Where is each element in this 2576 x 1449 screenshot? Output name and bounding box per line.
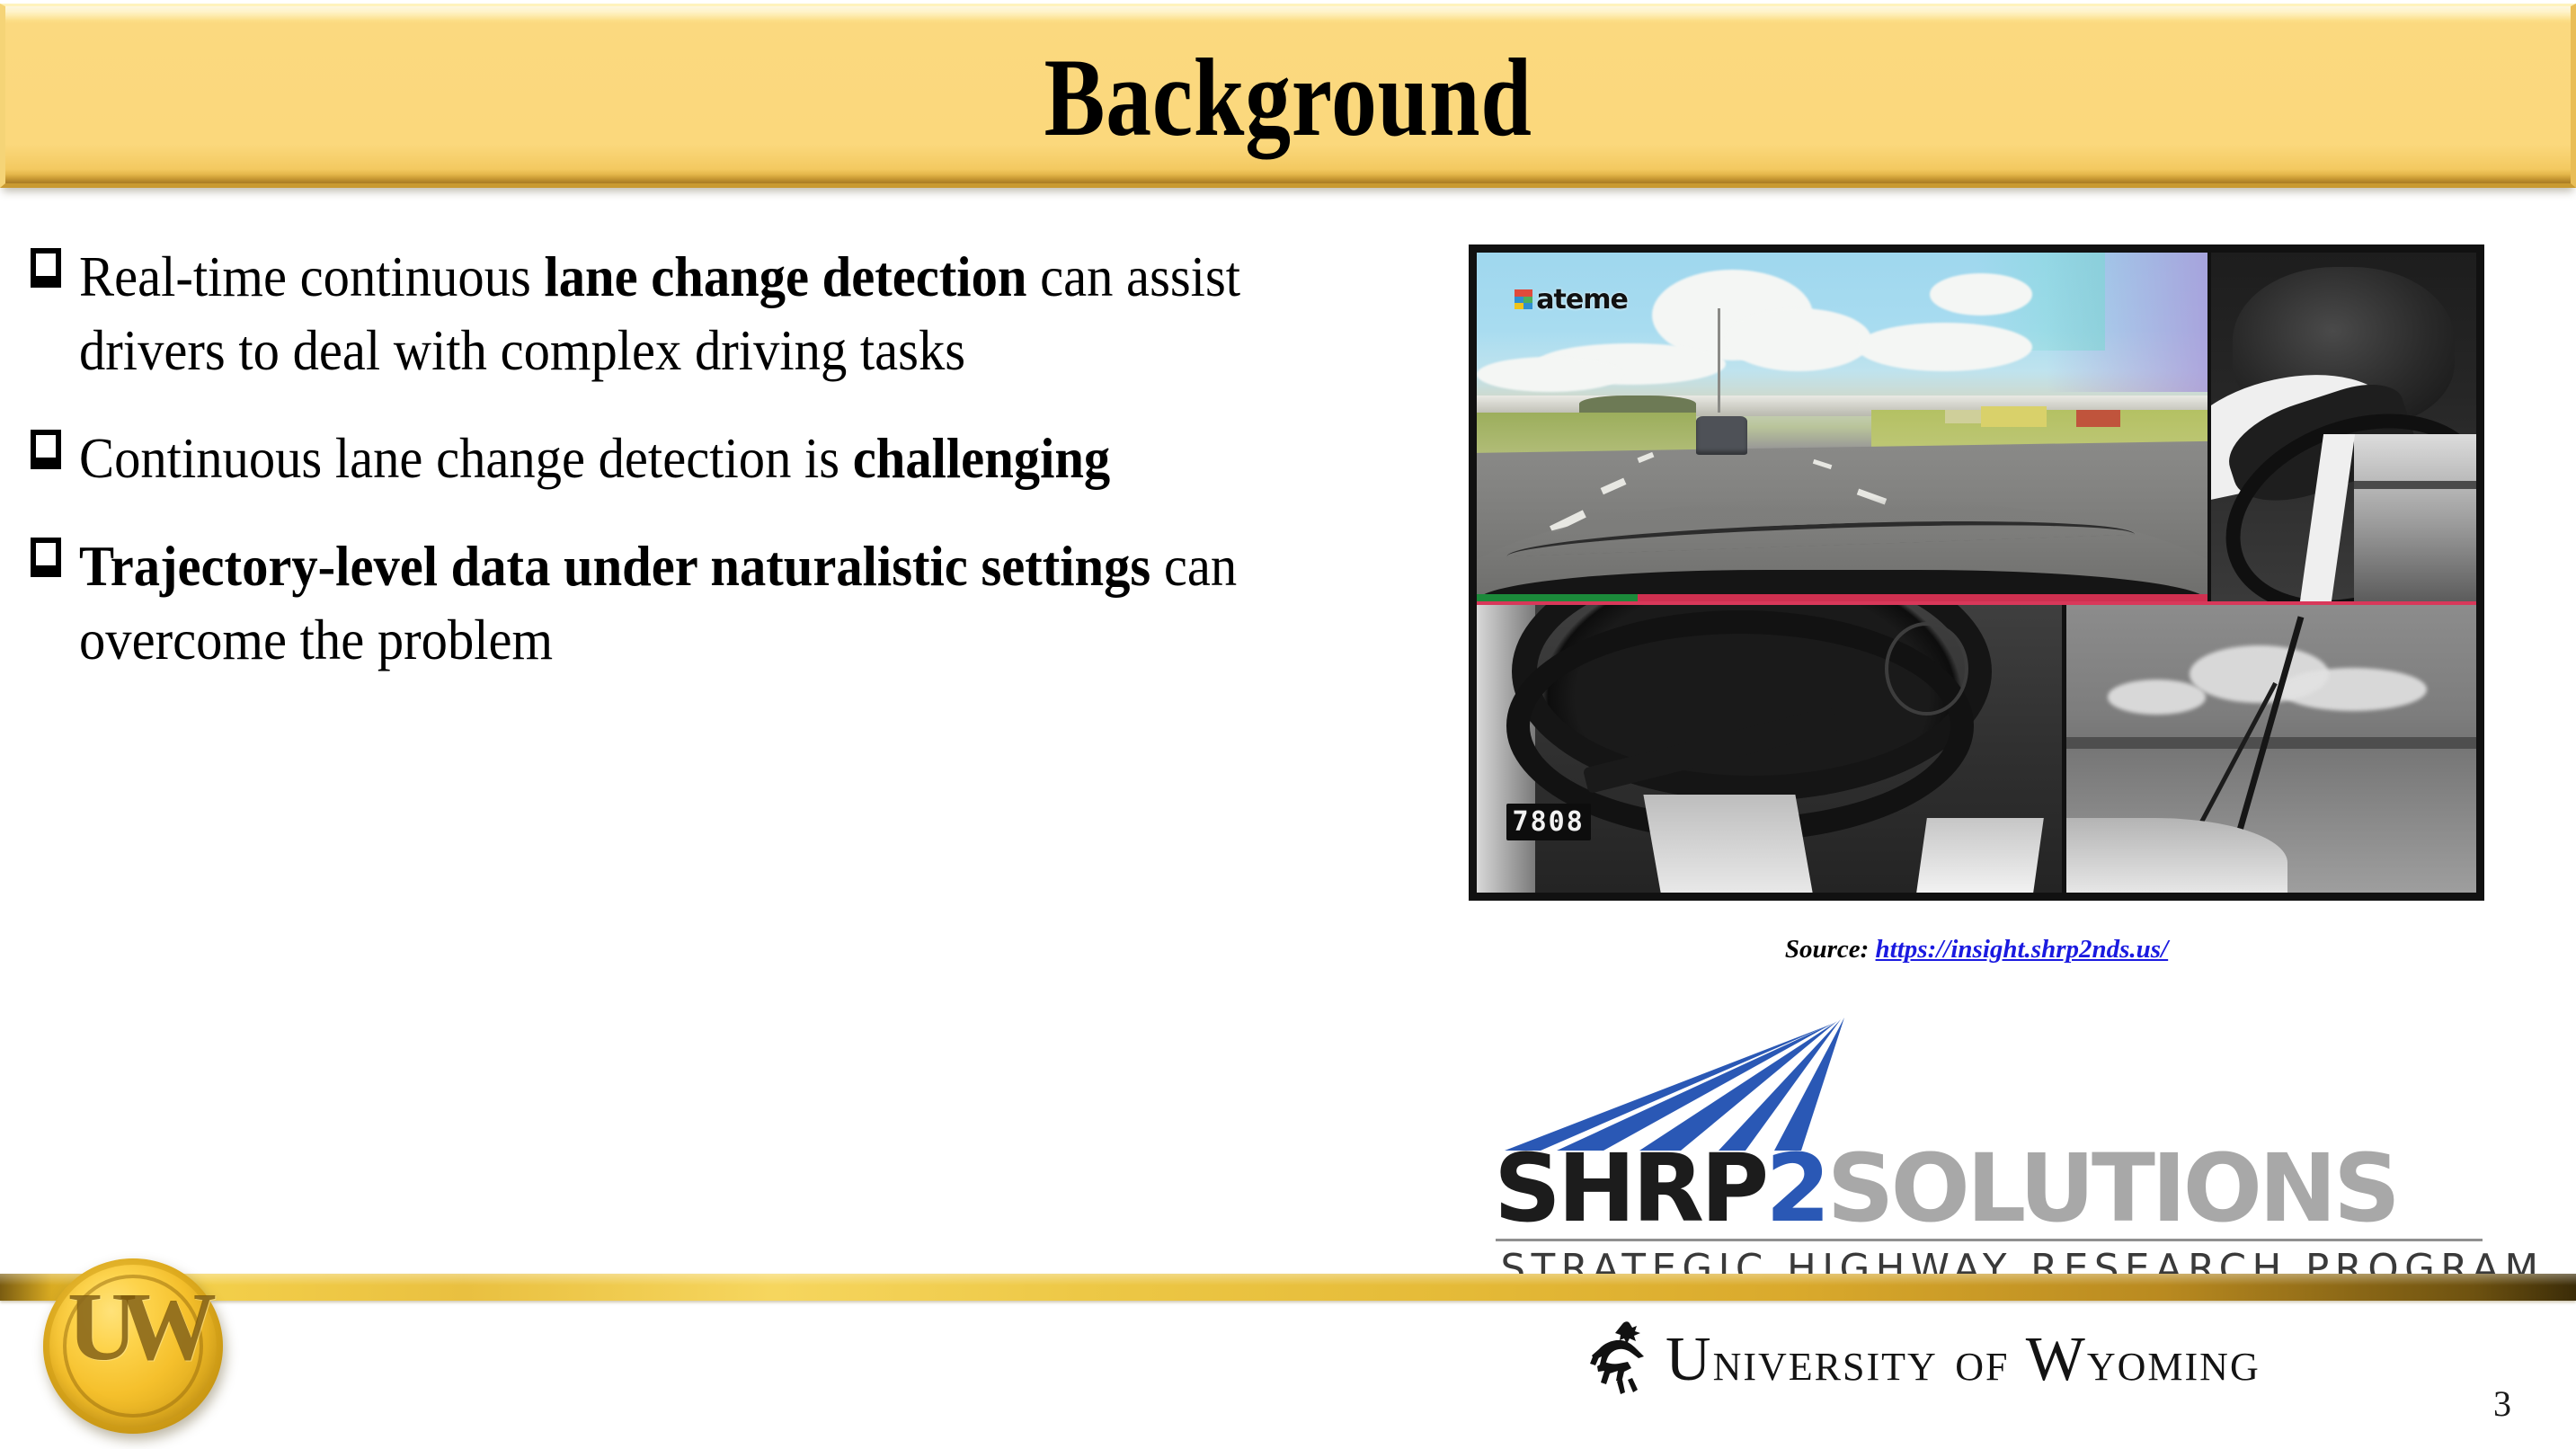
lead-vehicle xyxy=(1696,416,1747,455)
of-word: OF xyxy=(1955,1345,2009,1389)
page-title: Background xyxy=(1044,42,1532,154)
footer-gold-band xyxy=(0,1274,2576,1301)
cloud-shape xyxy=(2279,668,2427,711)
video-color-strip xyxy=(1477,594,2207,601)
list-item: Real-time continuous lane change detecti… xyxy=(31,241,1478,388)
solutions-text: SOLUTIONS xyxy=(1827,1142,2397,1235)
source-label: Source: xyxy=(1785,935,1869,964)
list-item: Continuous lane change detection is chal… xyxy=(31,422,1478,496)
university-wordmark: UNIVERSITY OF WYOMING xyxy=(1586,1320,2261,1400)
hollow-square-bullet-icon xyxy=(31,430,74,469)
bullet-3-seg-1: Trajectory-level data under naturalistic… xyxy=(79,535,1150,598)
bullet-2-seg-2: challenging xyxy=(853,427,1110,490)
frame-counter-overlay: 7808 xyxy=(1506,804,1591,840)
shrp-number-2: 2 xyxy=(1765,1142,1826,1235)
cloud-shape xyxy=(1726,308,1872,371)
dashboard-gauge xyxy=(1885,622,1968,716)
wyoming-rest: YOMING xyxy=(2087,1345,2261,1389)
logo-divider xyxy=(1496,1239,2483,1241)
hollow-square-bullet-icon xyxy=(31,248,74,288)
university-name: UNIVERSITY OF WYOMING xyxy=(1666,1329,2261,1391)
shrp2-solutions-logo: SHRP2SOLUTIONS STRATEGIC HIGHWAY RESEARC… xyxy=(1487,1016,2493,1249)
seal-monogram: UW xyxy=(43,1279,223,1376)
bullet-2-seg-1: Continuous lane change detection is xyxy=(79,427,853,490)
u-initial: U xyxy=(1666,1325,1713,1394)
content-body: Real-time continuous lane change detecti… xyxy=(31,241,1478,711)
center-console xyxy=(1916,818,2044,893)
list-item-text: Trajectory-level data under naturalistic… xyxy=(79,530,1380,678)
roadside-building xyxy=(2076,410,2120,427)
roadside-building xyxy=(1945,410,1982,424)
montage-bottom-row: 7808 xyxy=(1477,601,2476,893)
list-item-text: Continuous lane change detection is chal… xyxy=(79,422,1380,496)
bucking-horse-icon xyxy=(1586,1319,1657,1401)
cloud-shape xyxy=(1857,323,2032,371)
forward-road-camera-panel: ateme xyxy=(1477,253,2211,601)
shrp-text: SHRP xyxy=(1494,1142,1765,1235)
university-rest: NIVERSITY xyxy=(1713,1345,1938,1389)
ateme-logo-icon xyxy=(1515,289,1532,309)
shrp2-rays-icon xyxy=(1505,1016,1846,1151)
w-initial: W xyxy=(2026,1325,2087,1394)
source-attribution: Source: https://insight.shrp2nds.us/ xyxy=(1469,935,2484,965)
cloud-shape xyxy=(1477,357,1623,392)
source-url-link[interactable]: https://insight.shrp2nds.us/ xyxy=(1876,935,2169,964)
list-item: Trajectory-level data under naturalistic… xyxy=(31,530,1478,678)
slide-number: 3 xyxy=(2493,1382,2511,1425)
driver-leg xyxy=(1644,795,1813,893)
uw-seal-medallion: UW xyxy=(43,1258,223,1434)
roadside-building xyxy=(1981,406,2047,427)
list-item-text: Real-time continuous lane change detecti… xyxy=(79,241,1380,388)
rear-view-camera-panel xyxy=(2066,605,2476,893)
side-window xyxy=(2354,434,2476,601)
hollow-square-bullet-icon xyxy=(31,538,74,577)
steering-wheel-camera-panel: 7808 xyxy=(1477,605,2066,893)
driving-camera-montage: ateme 7808 xyxy=(1469,244,2484,901)
bullet-1-seg-2: lane change detection xyxy=(544,245,1026,308)
shrp2-wordmark: SHRP2SOLUTIONS xyxy=(1494,1142,2488,1235)
driver-face-camera-panel xyxy=(2211,253,2476,601)
ateme-watermark: ateme xyxy=(1515,284,1628,316)
title-banner: Background xyxy=(0,4,2576,188)
montage-top-row: ateme xyxy=(1477,253,2476,601)
ateme-watermark-text: ateme xyxy=(1536,284,1628,316)
utility-pole xyxy=(1718,308,1720,413)
cloud-shape xyxy=(1930,273,2032,316)
bullet-1-seg-1: Real-time continuous xyxy=(79,245,544,308)
